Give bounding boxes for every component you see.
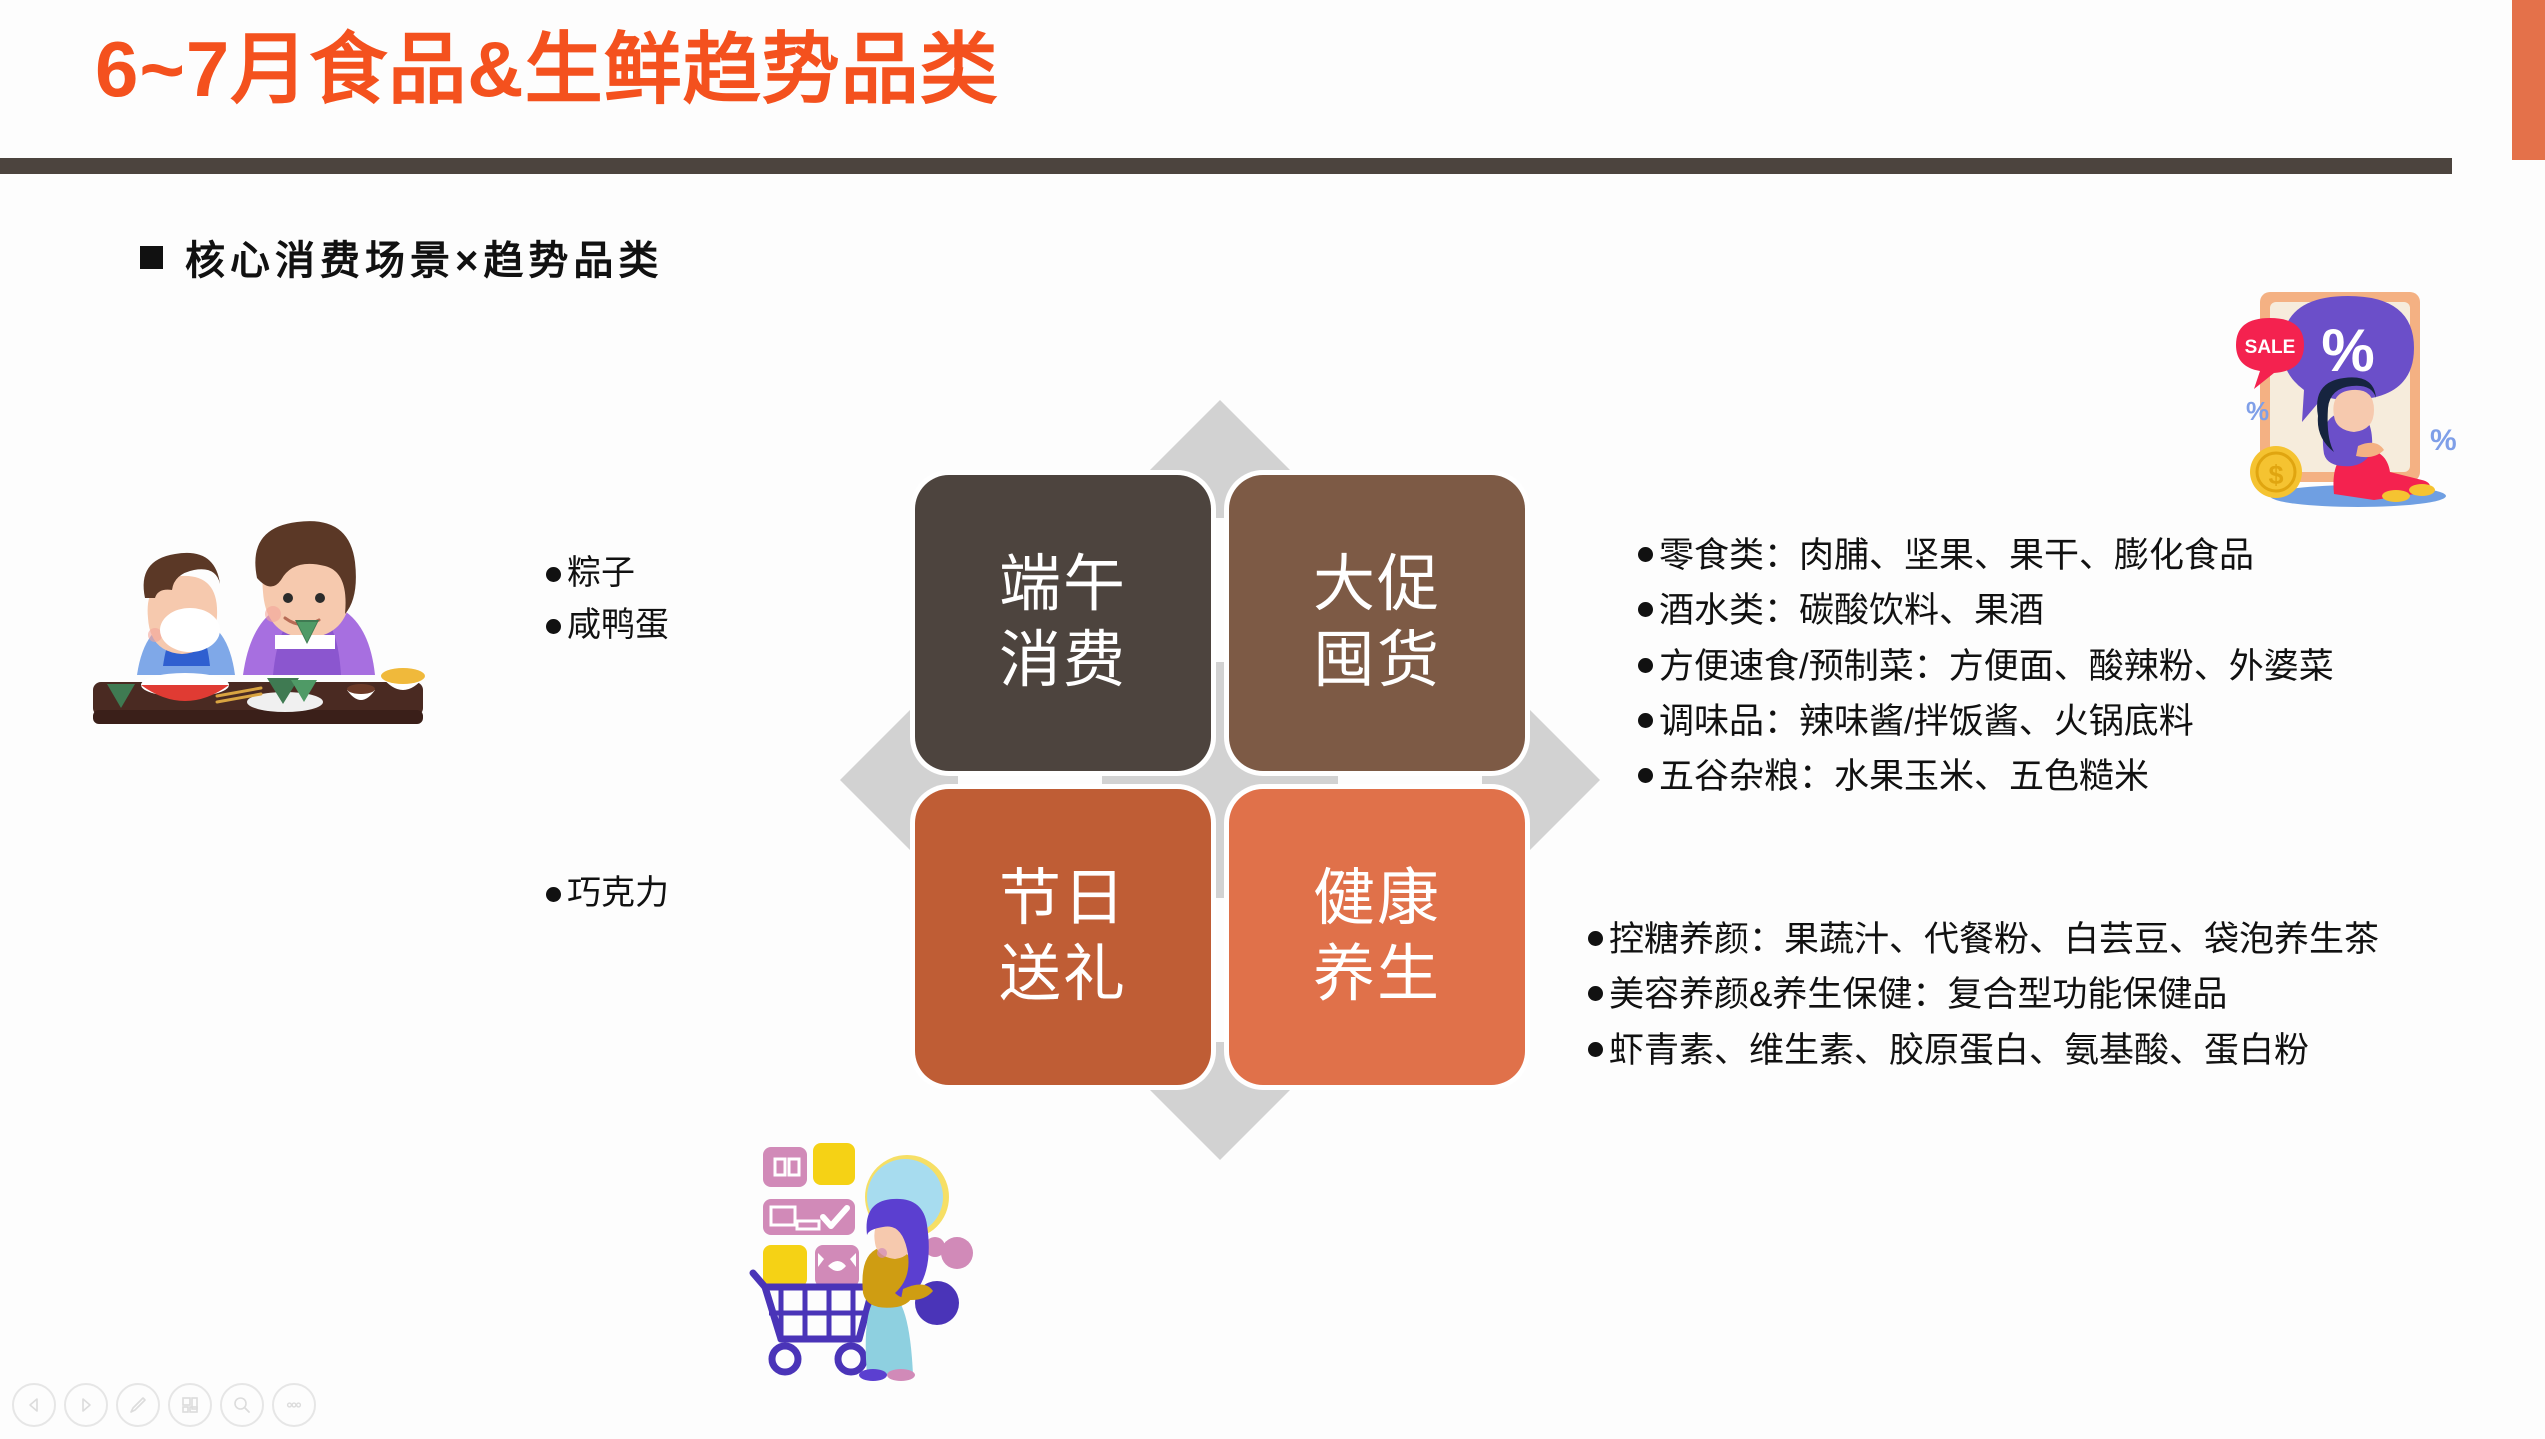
list-item-label: 巧克力 [567, 868, 669, 920]
list-item-label: 粽子 [567, 548, 635, 600]
list-item: 调味品：辣味酱/拌饭酱、火锅底料 [1638, 694, 2334, 749]
list-item-label: 五谷杂粮：水果玉米、五色糙米 [1659, 749, 2149, 804]
list-left-top: 粽子 咸鸭蛋 [546, 548, 669, 651]
list-item-label: 咸鸭蛋 [567, 600, 669, 652]
quadrant-health-wellness[interactable]: 健康 养生 [1229, 789, 1525, 1085]
bullet-dot-icon [1588, 986, 1603, 1001]
section-subtitle-label: 核心消费场景×趋势品类 [185, 228, 663, 286]
list-item-label: 控糖养颜：果蔬汁、代餐粉、白芸豆、袋泡养生茶 [1609, 912, 2379, 967]
list-item: 五谷杂粮：水果玉米、五色糙米 [1638, 749, 2334, 804]
quadrant-line-1: 健康 [1313, 861, 1441, 937]
quadrant-festival-gift[interactable]: 节日 送礼 [915, 789, 1211, 1085]
square-marker-icon [140, 246, 163, 269]
quadrant-line-2: 养生 [1313, 937, 1441, 1013]
list-left-bottom: 巧克力 [546, 868, 669, 920]
quadrant-line-2: 囤货 [1313, 623, 1441, 699]
quadrant-grid: 端午 消费 大促 囤货 节日 送礼 健康 养生 [915, 475, 1525, 1085]
next-slide-button[interactable] [64, 1383, 108, 1427]
bullet-dot-icon [1588, 931, 1603, 946]
ellipsis-icon [283, 1394, 305, 1416]
presentation-toolbar[interactable] [12, 1383, 316, 1427]
quadrant-line-2: 消费 [999, 623, 1127, 699]
list-item: 控糖养颜：果蔬汁、代餐粉、白芸豆、袋泡养生茶 [1588, 912, 2379, 967]
list-item-label: 美容养颜&养生保健：复合型功能保健品 [1609, 967, 2227, 1022]
slide-canvas: 6~7月食品&生鲜趋势品类 核心消费场景×趋势品类 [0, 0, 2545, 1439]
pen-tool-button[interactable] [116, 1383, 160, 1427]
quadrant-line-1: 端午 [999, 547, 1127, 623]
list-item: 咸鸭蛋 [546, 600, 669, 652]
svg-text:$: $ [2268, 460, 2283, 490]
quadrant-line-1: 大促 [1313, 547, 1441, 623]
list-item: 零食类：肉脯、坚果、果干、膨化食品 [1638, 528, 2334, 583]
pen-icon [127, 1394, 149, 1416]
bullet-dot-icon [1638, 768, 1653, 783]
quadrant-big-promo[interactable]: 大促 囤货 [1229, 475, 1525, 771]
list-right-top: 零食类：肉脯、坚果、果干、膨化食品 酒水类：碳酸饮料、果酒 方便速食/预制菜：方… [1638, 528, 2334, 804]
header-divider-rule [0, 158, 2452, 174]
zoom-search-button[interactable] [220, 1383, 264, 1427]
svg-text:%: % [2321, 317, 2374, 384]
sale-shopping-illustration: % SALE % % $ [2198, 268, 2498, 518]
bullet-dot-icon [546, 619, 561, 634]
list-item: 酒水类：碳酸饮料、果酒 [1638, 583, 2334, 638]
bullet-dot-icon [1638, 658, 1653, 673]
list-item: 美容养颜&养生保健：复合型功能保健品 [1588, 967, 2379, 1022]
list-item-label: 方便速食/预制菜：方便面、酸辣粉、外婆菜 [1659, 639, 2334, 694]
svg-text:%: % [2430, 424, 2457, 457]
list-item: 巧克力 [546, 868, 669, 920]
list-item-label: 零食类：肉脯、坚果、果干、膨化食品 [1659, 528, 2254, 583]
quadrant-line-2: 送礼 [999, 937, 1127, 1013]
list-right-bottom: 控糖养颜：果蔬汁、代餐粉、白芸豆、袋泡养生茶 美容养颜&养生保健：复合型功能保健… [1588, 912, 2379, 1078]
list-item-label: 虾青素、维生素、胶原蛋白、氨基酸、蛋白粉 [1609, 1023, 2309, 1078]
grid-icon [179, 1394, 201, 1416]
previous-slide-button[interactable] [12, 1383, 56, 1427]
list-item: 方便速食/预制菜：方便面、酸辣粉、外婆菜 [1638, 639, 2334, 694]
family-eating-illustration [85, 470, 435, 745]
shopping-cart-illustration [735, 1125, 1005, 1385]
bullet-dot-icon [1638, 713, 1653, 728]
quadrant-line-1: 节日 [999, 861, 1127, 937]
magnifier-icon [231, 1394, 253, 1416]
svg-text:%: % [2246, 396, 2269, 426]
list-item: 虾青素、维生素、胶原蛋白、氨基酸、蛋白粉 [1588, 1023, 2379, 1078]
svg-text:SALE: SALE [2245, 337, 2296, 358]
bullet-dot-icon [546, 887, 561, 902]
bullet-dot-icon [1638, 602, 1653, 617]
more-options-button[interactable] [272, 1383, 316, 1427]
quadrant-diagram: 端午 消费 大促 囤货 节日 送礼 健康 养生 [840, 400, 1600, 1160]
list-item-label: 酒水类：碳酸饮料、果酒 [1659, 583, 2044, 638]
triangle-right-icon [77, 1396, 95, 1414]
list-item: 粽子 [546, 548, 669, 600]
corner-accent-bar [2512, 0, 2545, 160]
slide-grid-button[interactable] [168, 1383, 212, 1427]
section-subtitle: 核心消费场景×趋势品类 [140, 228, 663, 286]
page-title: 6~7月食品&生鲜趋势品类 [95, 30, 999, 108]
bullet-dot-icon [546, 567, 561, 582]
list-item-label: 调味品：辣味酱/拌饭酱、火锅底料 [1659, 694, 2194, 749]
triangle-left-icon [25, 1396, 43, 1414]
bullet-dot-icon [1588, 1042, 1603, 1057]
bullet-dot-icon [1638, 547, 1653, 562]
quadrant-dragon-boat[interactable]: 端午 消费 [915, 475, 1211, 771]
